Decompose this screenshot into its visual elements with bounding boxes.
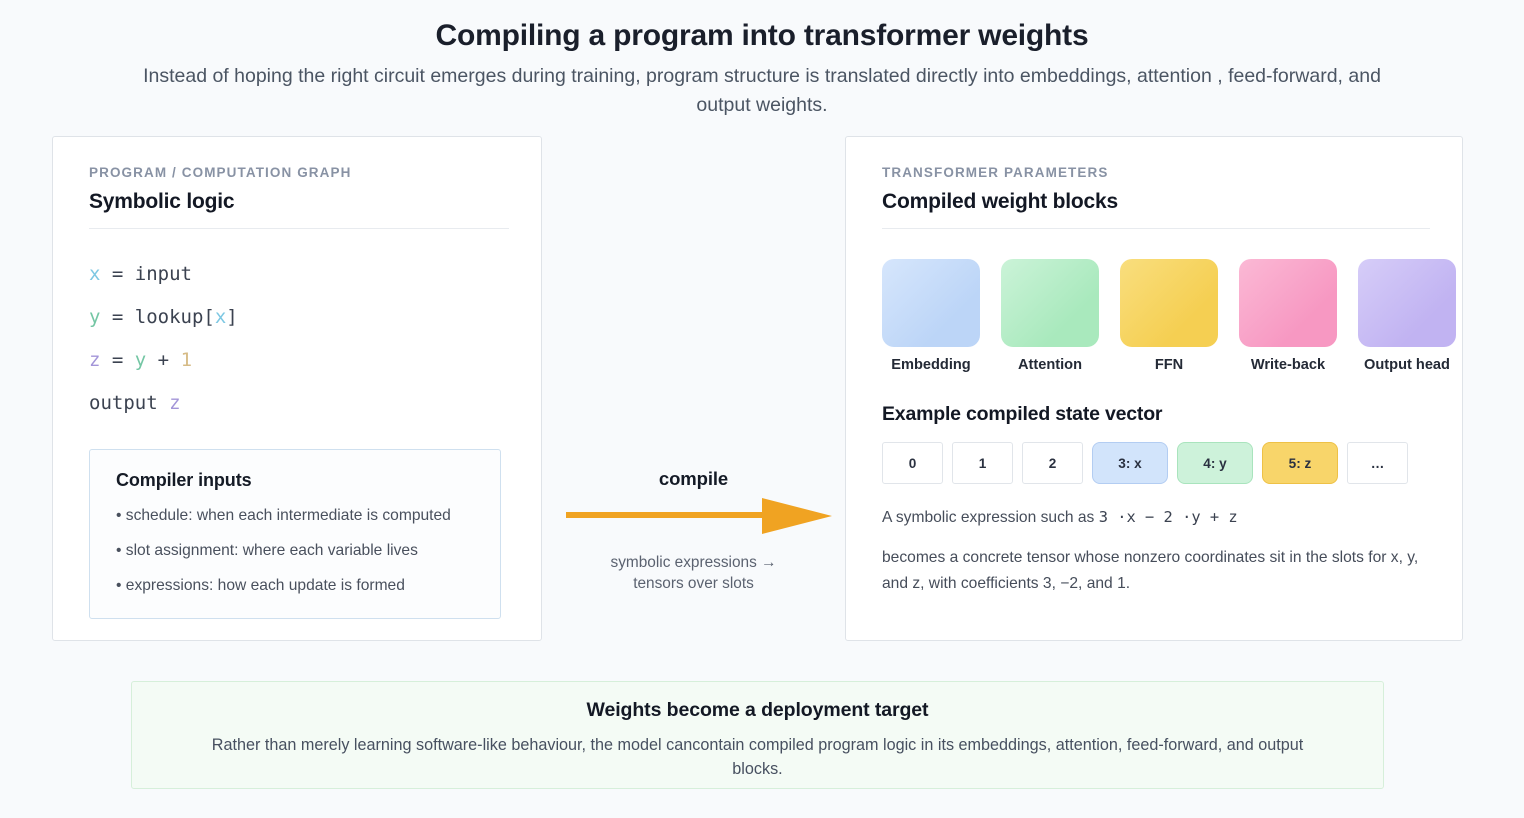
- code-token: +: [146, 349, 180, 371]
- footer-title: Weights become a deployment target: [132, 699, 1383, 722]
- program-panel: PROGRAM / COMPUTATION GRAPH Symbolic log…: [52, 136, 542, 641]
- compile-arrow-caption: symbolic expressions → tensors over slot…: [542, 552, 845, 594]
- code-token: 1: [181, 349, 192, 371]
- state-vector-note-line2: becomes a concrete tensor whose nonzero …: [882, 545, 1442, 597]
- code-line: output z: [89, 382, 509, 425]
- weight-block-swatch: [1239, 259, 1337, 347]
- main-columns: PROGRAM / COMPUTATION GRAPH Symbolic log…: [0, 136, 1524, 644]
- compiler-inputs-bullet: • expressions: how each update is formed: [116, 575, 476, 596]
- compile-label: compile: [542, 468, 845, 490]
- compiler-inputs-callout: Compiler inputs • schedule: when each in…: [89, 449, 501, 619]
- transformer-panel: TRANSFORMER PARAMETERS Compiled weight b…: [845, 136, 1463, 641]
- compiler-inputs-bullet: • slot assignment: where each variable l…: [116, 540, 476, 561]
- state-vector-slots: 0123: x4: y5: z…: [882, 442, 1430, 484]
- weight-block[interactable]: Write-back: [1239, 259, 1337, 373]
- compile-arrow-icon: [566, 498, 832, 534]
- weight-block-label: Write-back: [1239, 357, 1337, 373]
- compile-arrow-group: compile symbolic expressions → tensors o…: [542, 136, 845, 641]
- compile-caption-line1: symbolic expressions →: [542, 552, 845, 573]
- weight-block-label: FFN: [1120, 357, 1218, 373]
- code-token: x: [89, 263, 100, 285]
- compile-caption-line2: tensors over slots: [542, 573, 845, 594]
- code-token: = input: [100, 263, 192, 285]
- note-expression: 3 ·x − 2 ·y + z: [1099, 508, 1238, 526]
- weight-block-swatch: [1001, 259, 1099, 347]
- state-vector-slot[interactable]: 2: [1022, 442, 1083, 484]
- code-token: =: [100, 349, 134, 371]
- code-line: z = y + 1: [89, 339, 509, 382]
- code-token: = lookup[: [100, 306, 214, 328]
- state-vector-slot[interactable]: 4: y: [1177, 442, 1253, 484]
- program-panel-eyebrow: PROGRAM / COMPUTATION GRAPH: [89, 165, 509, 180]
- slide-canvas: Compiling a program into transformer wei…: [0, 0, 1524, 818]
- weight-block[interactable]: Output head: [1358, 259, 1456, 373]
- transformer-panel-divider: [882, 228, 1430, 229]
- weight-block-swatch: [882, 259, 980, 347]
- page-subtitle: Instead of hoping the right circuit emer…: [117, 62, 1407, 120]
- deployment-target-callout: Weights become a deployment target Rathe…: [131, 681, 1384, 789]
- code-token: z: [169, 392, 180, 414]
- code-token: y: [89, 306, 100, 328]
- compiler-inputs-title: Compiler inputs: [116, 470, 476, 491]
- state-vector-note-line1: A symbolic expression such as 3 ·x − 2 ·…: [882, 504, 1442, 531]
- state-vector-slot[interactable]: 3: x: [1092, 442, 1168, 484]
- state-vector-slot[interactable]: 1: [952, 442, 1013, 484]
- compiler-inputs-bullet: • schedule: when each intermediate is co…: [116, 505, 476, 526]
- weight-block[interactable]: Embedding: [882, 259, 980, 373]
- header: Compiling a program into transformer wei…: [0, 0, 1524, 120]
- state-vector-slot[interactable]: …: [1347, 442, 1408, 484]
- code-token: x: [215, 306, 226, 328]
- weight-blocks-row: EmbeddingAttentionFFNWrite-backOutput he…: [882, 259, 1430, 373]
- weight-block-label: Embedding: [882, 357, 980, 373]
- weight-block-swatch: [1358, 259, 1456, 347]
- weight-block-swatch: [1120, 259, 1218, 347]
- code-token: ]: [226, 306, 237, 328]
- weight-block-label: Attention: [1001, 357, 1099, 373]
- program-panel-divider: [89, 228, 509, 229]
- weight-block-label: Output head: [1358, 357, 1456, 373]
- symbolic-code-block: x = inputy = lookup[x]z = y + 1output z: [89, 253, 509, 425]
- weight-block[interactable]: Attention: [1001, 259, 1099, 373]
- code-line: x = input: [89, 253, 509, 296]
- code-token: y: [135, 349, 146, 371]
- code-token: output: [89, 392, 169, 414]
- transformer-panel-eyebrow: TRANSFORMER PARAMETERS: [882, 165, 1430, 180]
- state-vector-slot[interactable]: 0: [882, 442, 943, 484]
- transformer-panel-heading: Compiled weight blocks: [882, 190, 1430, 214]
- weight-block[interactable]: FFN: [1120, 259, 1218, 373]
- state-vector-slot[interactable]: 5: z: [1262, 442, 1338, 484]
- code-line: y = lookup[x]: [89, 296, 509, 339]
- code-token: z: [89, 349, 100, 371]
- state-vector-heading: Example compiled state vector: [882, 403, 1430, 426]
- footer-text: Rather than merely learning software-lik…: [198, 733, 1318, 781]
- page-title: Compiling a program into transformer wei…: [0, 16, 1524, 56]
- note-prefix: A symbolic expression such as: [882, 509, 1099, 526]
- program-panel-heading: Symbolic logic: [89, 190, 509, 214]
